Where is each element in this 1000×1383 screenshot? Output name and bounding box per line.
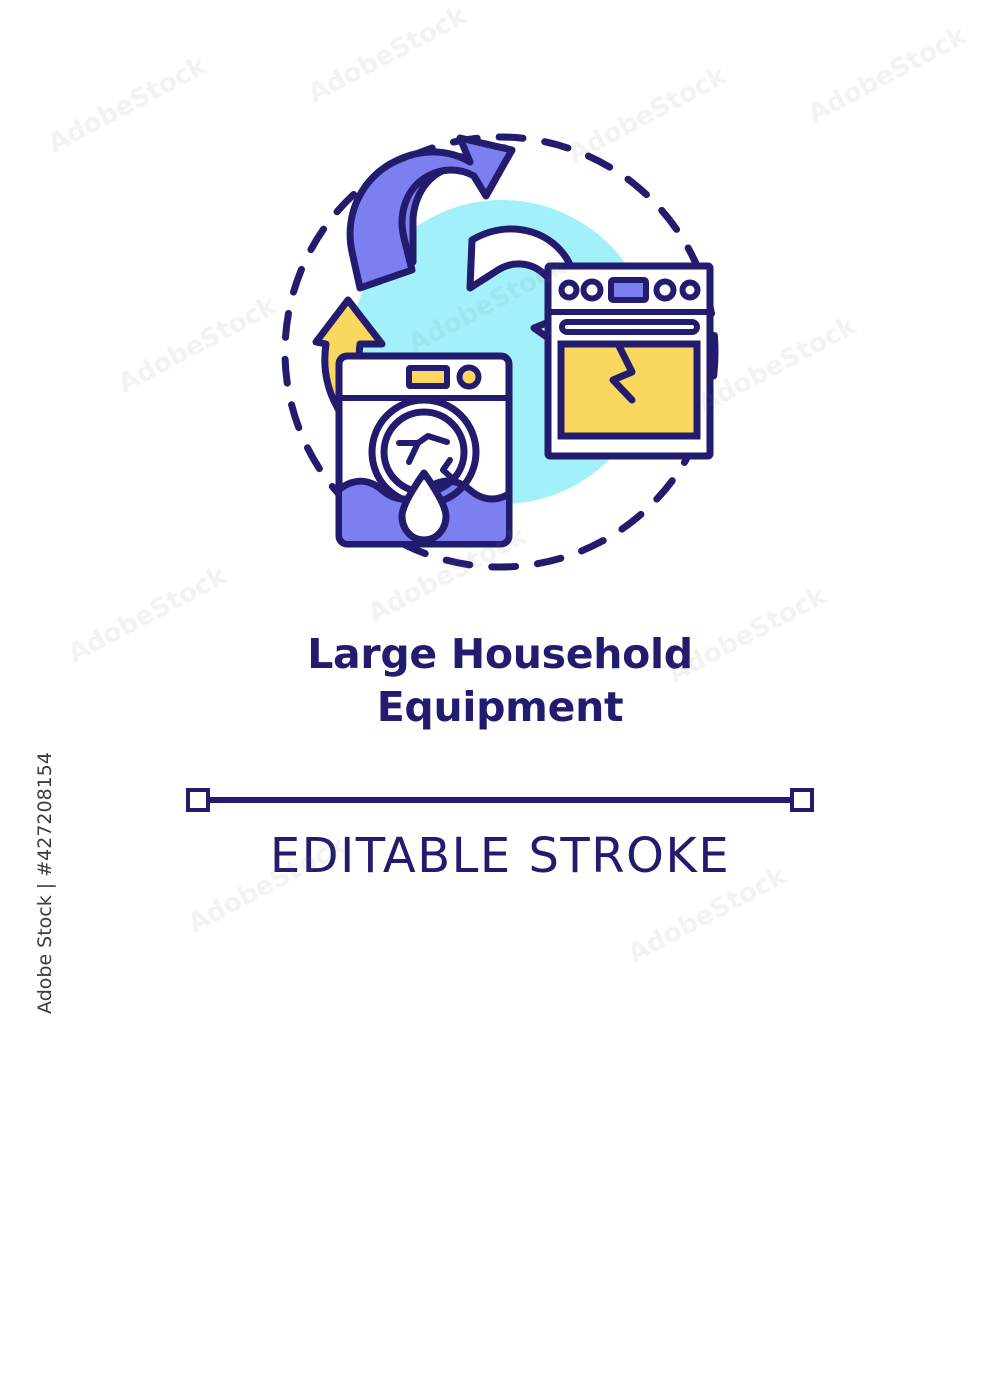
- oven-knob-4[interactable]: [683, 283, 698, 298]
- oven-display: [611, 280, 646, 300]
- oven-handle[interactable]: [562, 322, 697, 332]
- concept-icon-stage: Large Household Equipment EDITABLE STROK…: [0, 0, 1000, 1000]
- editable-stroke-label: EDITABLE STROKE: [0, 828, 1000, 884]
- left-stroke-handle[interactable]: [186, 788, 210, 812]
- oven-door[interactable]: [561, 344, 697, 436]
- washer-knob[interactable]: [460, 368, 479, 387]
- right-stroke-handle[interactable]: [790, 788, 814, 812]
- oven: [548, 266, 710, 456]
- page-title-line-1: Large Household: [0, 628, 1000, 681]
- page-title: Large Household Equipment: [0, 628, 1000, 734]
- stroke-rule[interactable]: [186, 788, 814, 812]
- washing-machine: [336, 356, 514, 548]
- washer-display: [409, 368, 447, 386]
- page-title-line-2: Equipment: [0, 681, 1000, 734]
- oven-knob-1[interactable]: [562, 283, 577, 298]
- stroke-line: [208, 797, 792, 803]
- oven-knob-3[interactable]: [657, 282, 674, 299]
- oven-knob-2[interactable]: [584, 282, 601, 299]
